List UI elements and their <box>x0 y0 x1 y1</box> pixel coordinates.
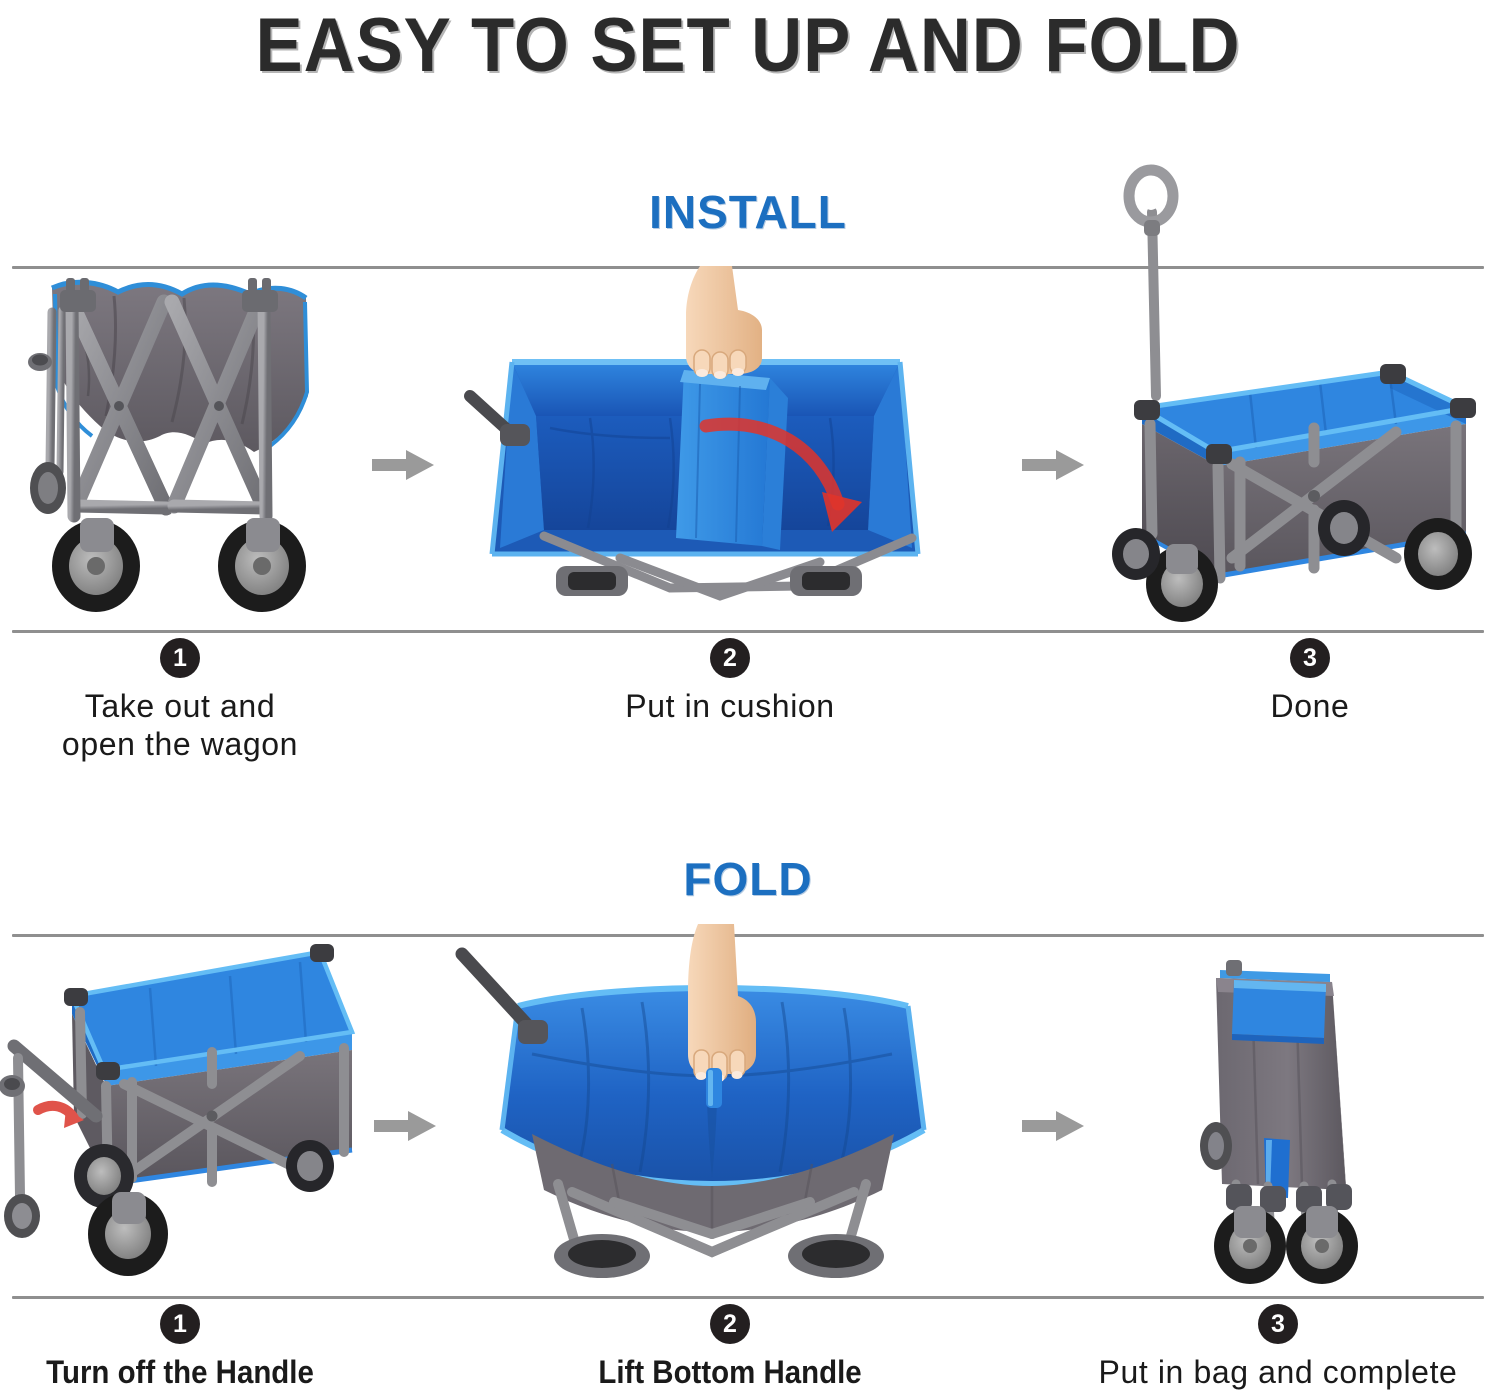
illustration-wagon-handle-down <box>0 934 370 1296</box>
step-badge-5: 2 <box>710 1304 750 1344</box>
illustration-wagon-collapsing <box>462 934 962 1296</box>
illustration-wagon-folded-side <box>14 266 354 630</box>
fold-panel-row <box>0 934 1496 1296</box>
section-heading-install: INSTALL <box>0 185 1496 239</box>
step-arrow-4-to-5 <box>374 1109 436 1143</box>
step-badge-4: 1 <box>160 1304 200 1344</box>
step-arrow-1-to-2 <box>372 448 434 482</box>
step-caption-5: 2 Lift Bottom Handle <box>480 1304 980 1391</box>
step-caption-1: 1 Take out and open the wagon <box>0 638 360 763</box>
step-badge-3: 3 <box>1290 638 1330 678</box>
step-caption-text-2: Put in cushion <box>490 687 970 725</box>
step-caption-2: 2 Put in cushion <box>490 638 970 725</box>
step-caption-6: 3 Put in bag and complete <box>1060 1304 1496 1391</box>
illustration-wagon-in-bag <box>1160 934 1460 1296</box>
step-arrow-5-to-6 <box>1022 1109 1084 1143</box>
instruction-sheet: EASY TO SET UP AND FOLD INSTALL <box>0 0 1496 1388</box>
step-arrow-2-to-3 <box>1022 448 1084 482</box>
install-panel-row <box>0 266 1496 630</box>
section-heading-fold: FOLD <box>0 852 1496 906</box>
step-badge-2: 2 <box>710 638 750 678</box>
step-caption-text-1: Take out and open the wagon <box>0 687 360 763</box>
step-caption-4: 1 Turn off the Handle <box>0 1304 360 1391</box>
step-caption-text-6: Put in bag and complete <box>1060 1353 1496 1391</box>
page-title: EASY TO SET UP AND FOLD <box>52 2 1443 89</box>
step-caption-text-3: Done <box>1120 687 1496 725</box>
illustration-wagon-assembled <box>1090 266 1490 630</box>
divider-rule-bottom-install <box>12 630 1484 633</box>
step-badge-1: 1 <box>160 638 200 678</box>
step-caption-text-4: Turn off the Handle <box>14 1353 345 1391</box>
step-caption-3: 3 Done <box>1120 638 1496 725</box>
illustration-wagon-open-cushion <box>470 266 940 630</box>
step-caption-text-5: Lift Bottom Handle <box>500 1353 960 1391</box>
step-badge-6: 3 <box>1258 1304 1298 1344</box>
divider-rule-bottom-fold <box>12 1296 1484 1299</box>
